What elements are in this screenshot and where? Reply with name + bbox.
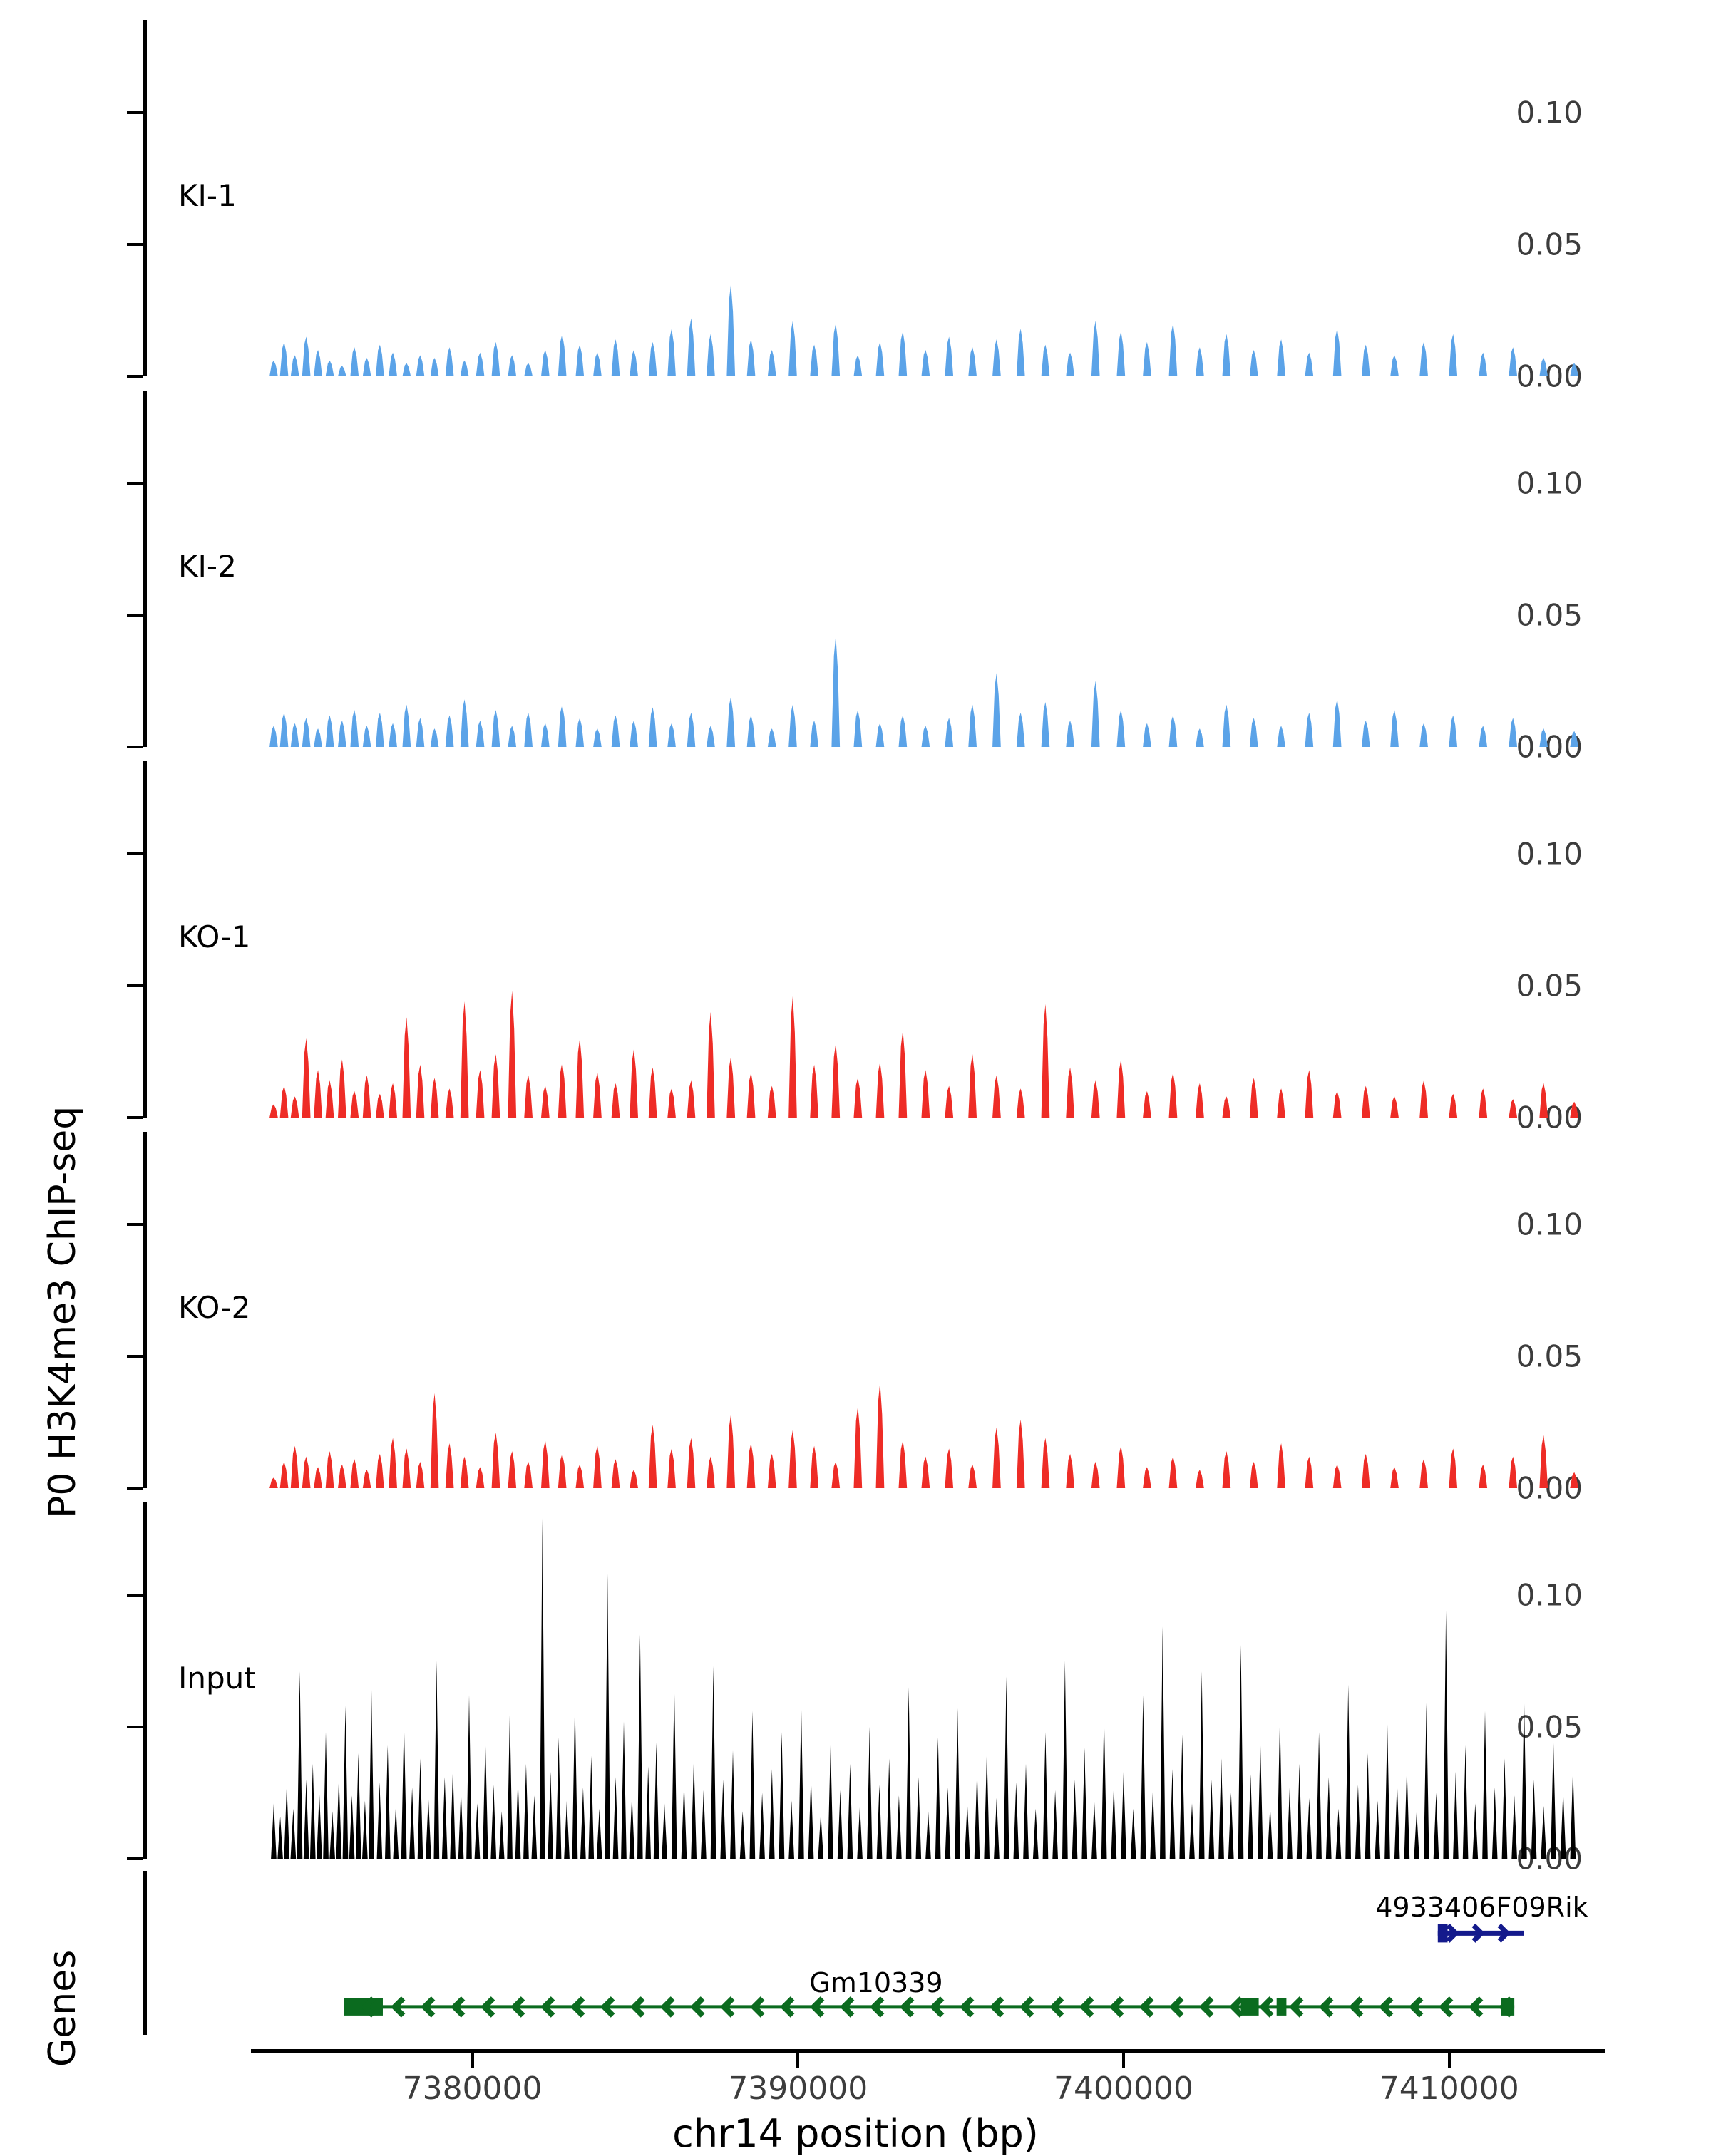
genes-axis-label: Genes xyxy=(41,1950,84,2067)
x-axis-tick-label: 7390000 xyxy=(728,2070,868,2107)
y-axis-tick xyxy=(127,746,143,748)
y-axis-tick xyxy=(127,111,143,114)
signal-area-ko-2 xyxy=(147,1132,1605,1488)
x-axis-line xyxy=(251,2049,1605,2053)
track-panel-ko-2: 0.000.050.10KO-2 xyxy=(143,1132,1601,1488)
y-axis-tick xyxy=(127,1594,143,1597)
track-panel-ki-2: 0.000.050.10KI-2 xyxy=(143,391,1601,747)
x-axis-tick-label: 7380000 xyxy=(403,2070,543,2107)
track-panel-input: 0.000.050.10Input xyxy=(143,1502,1601,1859)
x-axis-tick-label: 7400000 xyxy=(1054,2070,1193,2107)
y-axis-tick xyxy=(127,984,143,987)
y-axis-tick xyxy=(127,243,143,246)
y-axis-tick xyxy=(127,1116,143,1119)
genes-panel: Gm103394933406F09Rik xyxy=(143,1871,1601,2035)
y-axis-tick xyxy=(127,614,143,617)
x-axis-tick xyxy=(1122,2053,1125,2068)
gene-4933406F09Rik[interactable] xyxy=(1438,1924,1524,1942)
x-axis-tick xyxy=(796,2053,799,2068)
y-axis-tick xyxy=(127,482,143,485)
track-panel-ko-1: 0.000.050.10KO-1 xyxy=(143,761,1601,1118)
signal-area-input xyxy=(147,1502,1605,1859)
y-axis-tick xyxy=(127,1726,143,1728)
y-axis-tick xyxy=(127,852,143,855)
x-axis-tick xyxy=(471,2053,474,2068)
x-axis-label: chr14 position (bp) xyxy=(0,2111,1711,2156)
x-axis-tick xyxy=(1448,2053,1451,2068)
y-axis-tick xyxy=(127,1223,143,1226)
signal-area-ko-1 xyxy=(147,761,1605,1118)
y-axis-tick xyxy=(127,375,143,378)
genome-browser-figure: P0 H3K4me3 ChIP-seq Genes 0.000.050.10KI… xyxy=(0,0,1711,2138)
gene-Gm10339[interactable] xyxy=(344,1998,1514,2016)
y-axis-tick xyxy=(127,1355,143,1358)
y-axis-tick xyxy=(127,1487,143,1490)
signal-area-ki-1 xyxy=(147,20,1605,376)
signal-area-ki-2 xyxy=(147,391,1605,747)
y-axis-tick xyxy=(127,1857,143,1860)
gene-models xyxy=(147,1871,1605,2035)
y-axis-label: P0 H3K4me3 ChIP-seq xyxy=(41,93,84,1518)
track-panel-ki-1: 0.000.050.10KI-1 xyxy=(143,20,1601,376)
x-axis-tick-label: 7410000 xyxy=(1379,2070,1519,2107)
